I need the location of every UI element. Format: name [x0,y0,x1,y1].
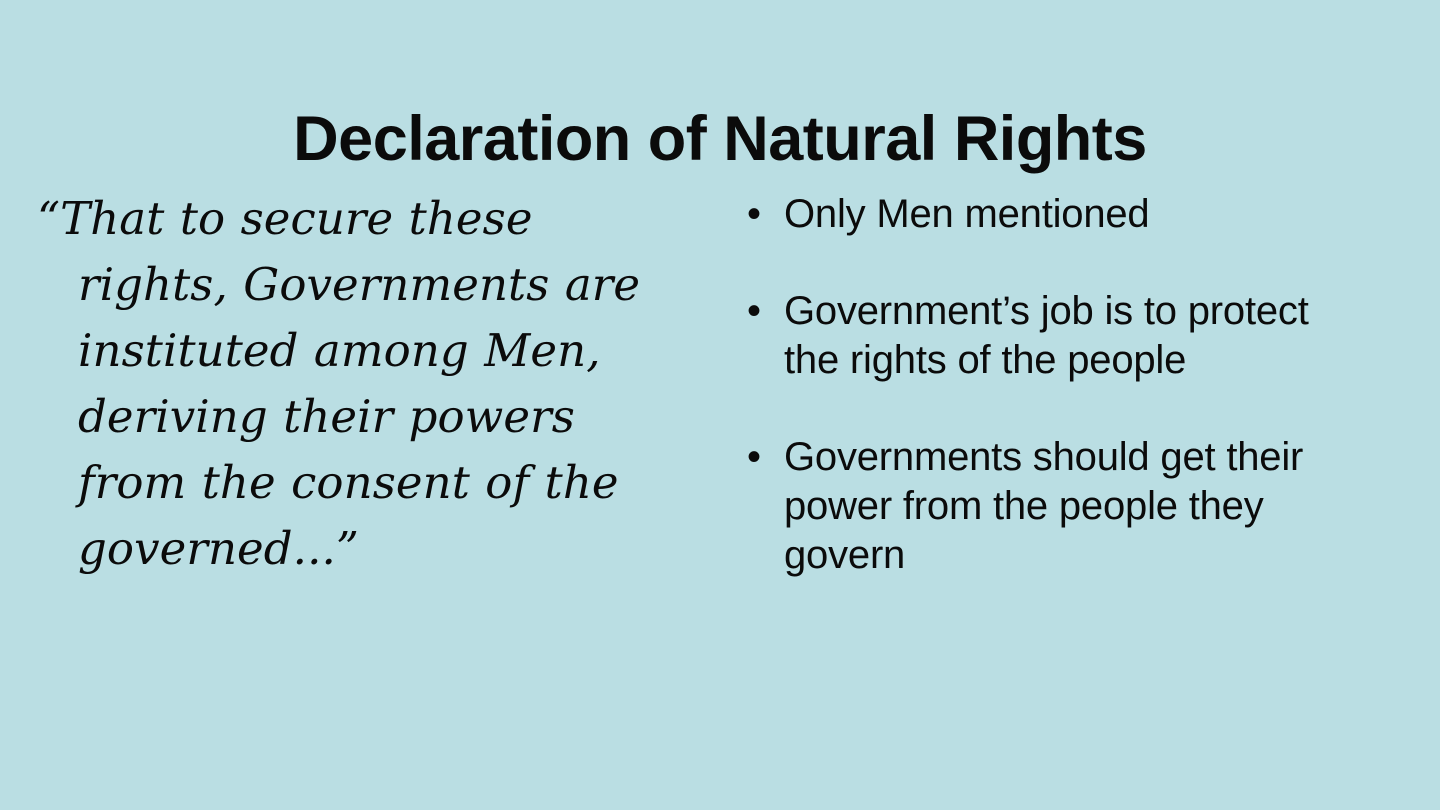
list-item: • Government’s job is to protect the rig… [742,287,1342,385]
list-item: • Governments should get their power fro… [742,433,1342,580]
page-title: Declaration of Natural Rights [0,100,1440,178]
bullet-dot-icon: • [747,287,767,336]
bullet-dot-icon: • [747,433,767,482]
list-item-label: Governments should get their power from … [784,433,1342,580]
quote-text: “That to secure these rights, Government… [37,186,697,582]
bullet-dot-icon: • [747,190,767,239]
quote-block: “That to secure these rights, Government… [37,186,697,582]
list-item: • Only Men mentioned [742,190,1342,239]
slide-canvas: Declaration of Natural Rights “That to s… [0,0,1440,810]
list-item-label: Government’s job is to protect the right… [784,287,1342,385]
list-item-label: Only Men mentioned [784,190,1342,239]
bullet-list: • Only Men mentioned • Government’s job … [742,190,1342,580]
